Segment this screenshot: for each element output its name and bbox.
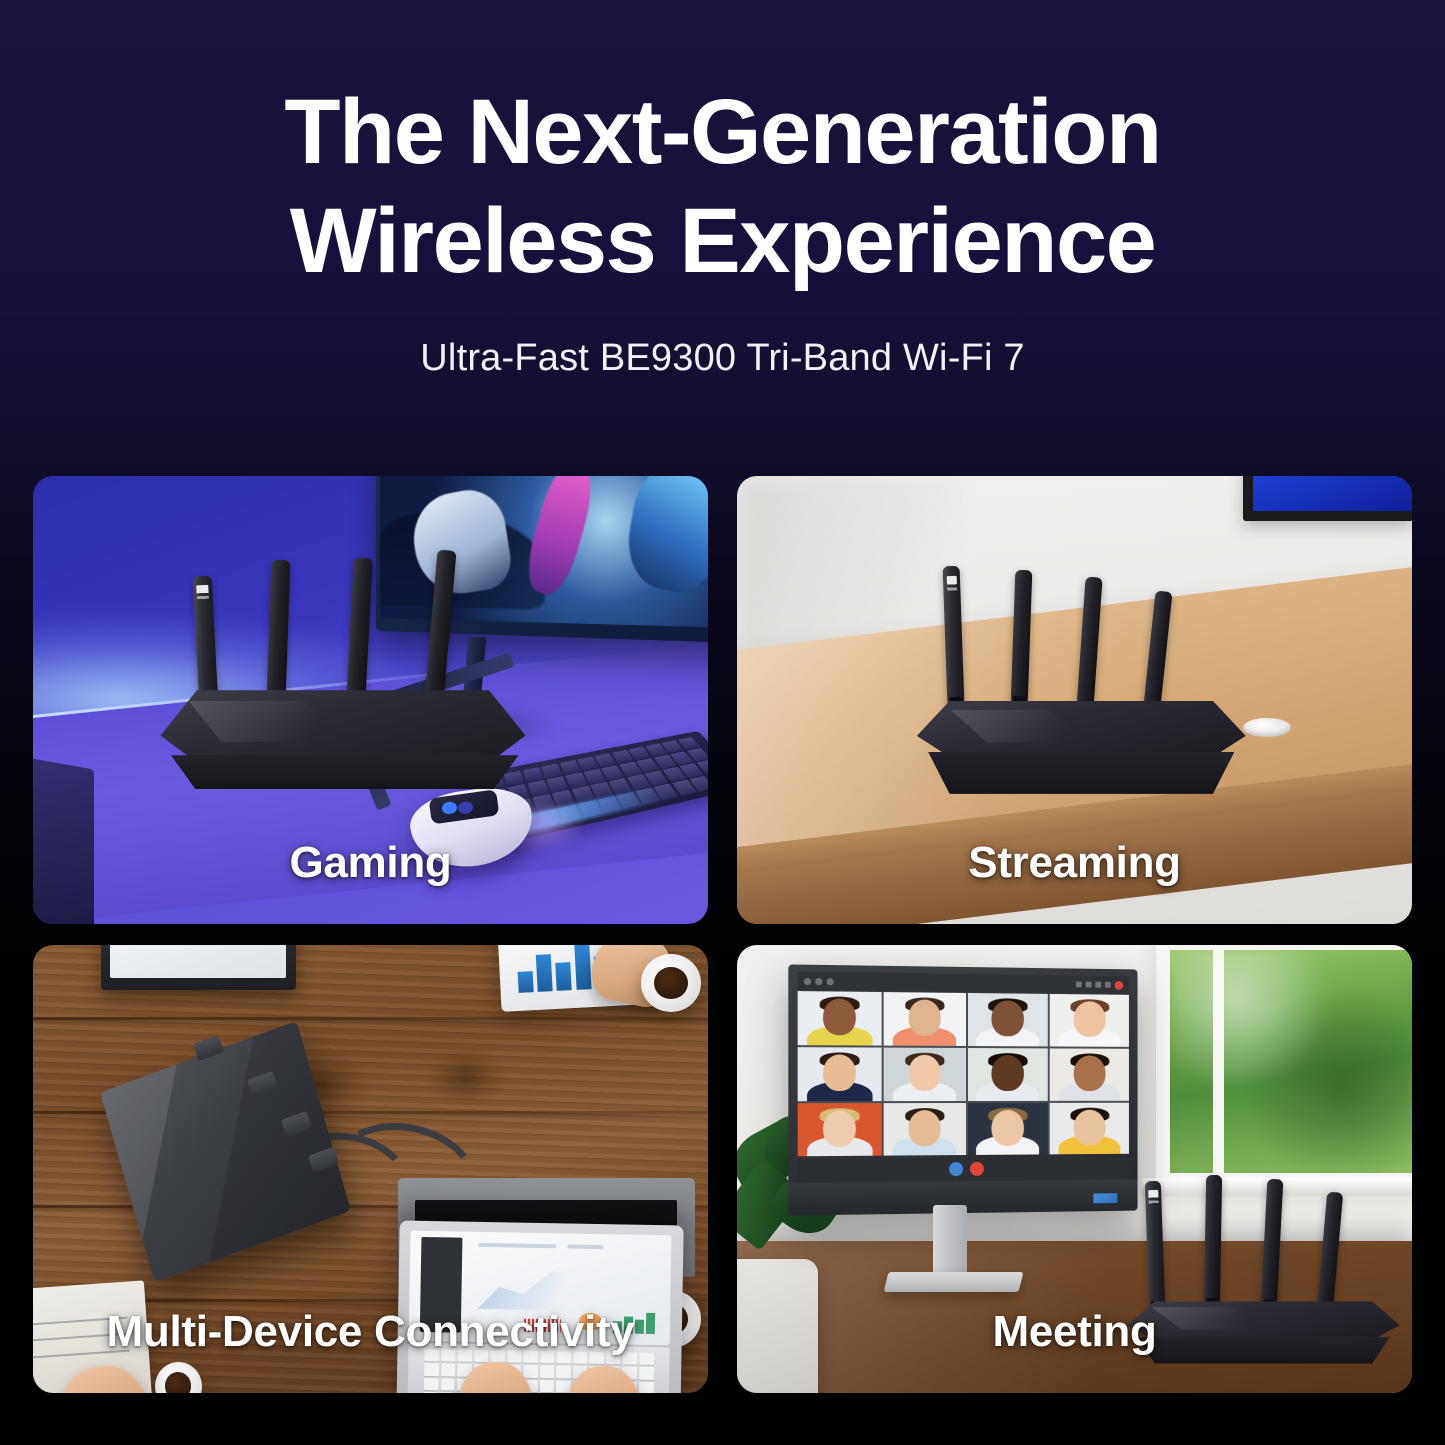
hero-section: The Next-Generation Wireless Experience … bbox=[0, 0, 1445, 380]
video-participant-tile[interactable] bbox=[797, 1047, 881, 1101]
video-participant-tile[interactable] bbox=[797, 991, 881, 1045]
feature-card-meeting[interactable]: Meeting bbox=[737, 945, 1412, 1393]
monitor-brand-logo-icon bbox=[1094, 1193, 1118, 1203]
brand-logo-icon bbox=[196, 585, 209, 606]
video-participant-tile[interactable] bbox=[797, 1103, 881, 1157]
end-call-icon[interactable] bbox=[970, 1162, 984, 1176]
feature-card-streaming[interactable]: Streaming bbox=[737, 476, 1412, 924]
video-participant-tile[interactable] bbox=[1050, 1103, 1129, 1155]
coffee-cup-icon bbox=[641, 954, 702, 1012]
mic-icon[interactable] bbox=[949, 1162, 963, 1176]
tablet-device-icon bbox=[101, 945, 297, 990]
brand-logo-icon bbox=[946, 575, 957, 598]
page-subtitle: Ultra-Fast BE9300 Tri-Band Wi-Fi 7 bbox=[0, 337, 1445, 380]
video-participant-tile[interactable] bbox=[883, 992, 965, 1046]
video-participant-tile[interactable] bbox=[1050, 1049, 1129, 1101]
card-label-multi-device: Multi-Device Connectivity bbox=[33, 1307, 708, 1357]
feature-card-gaming[interactable]: Gaming bbox=[33, 476, 708, 924]
card-label-gaming: Gaming bbox=[33, 838, 708, 888]
feature-card-grid: Gaming bbox=[33, 476, 1412, 1393]
video-participant-tile[interactable] bbox=[967, 1048, 1048, 1101]
video-participant-tile[interactable] bbox=[883, 1103, 965, 1157]
video-participant-tile[interactable] bbox=[1050, 994, 1129, 1047]
video-participant-tile[interactable] bbox=[883, 1048, 965, 1101]
video-participant-tile[interactable] bbox=[967, 993, 1048, 1046]
video-call-monitor bbox=[788, 965, 1137, 1217]
video-participant-tile[interactable] bbox=[967, 1103, 1048, 1156]
brand-logo-icon bbox=[1148, 1190, 1158, 1211]
video-call-participant-grid bbox=[797, 991, 1129, 1157]
feature-card-multi-device[interactable]: Multi-Device Connectivity bbox=[33, 945, 708, 1393]
desk-cable-grommet bbox=[1243, 718, 1290, 737]
card-label-streaming: Streaming bbox=[737, 838, 1412, 888]
window-control-dot-icon bbox=[804, 978, 834, 985]
router-product-image bbox=[940, 566, 1224, 799]
tv-icon bbox=[1243, 476, 1412, 521]
record-indicator-icon bbox=[1076, 980, 1123, 989]
card-label-meeting: Meeting bbox=[737, 1307, 1412, 1357]
page-title: The Next-Generation Wireless Experience bbox=[0, 78, 1445, 295]
window-icon bbox=[1156, 945, 1413, 1187]
router-product-image bbox=[182, 566, 533, 826]
